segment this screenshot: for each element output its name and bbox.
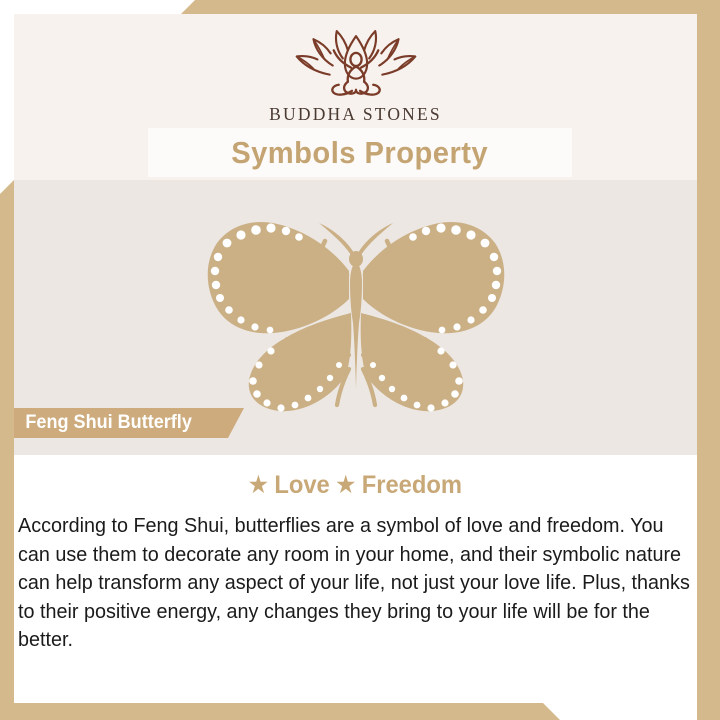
page-title: Symbols Property: [232, 135, 489, 171]
tagline: ★ Love ★ Freedom: [31, 471, 680, 500]
description-section: ★ Love ★ Freedom According to Feng Shui,…: [14, 455, 697, 703]
star-icon-middle: ★: [336, 472, 355, 497]
header-section: BUDDHA STONES Symbols Property: [14, 14, 697, 180]
frame-left-bar: [0, 180, 14, 720]
feng-shui-butterfly-label: Feng Shui Butterfly: [14, 408, 244, 438]
description-paragraph: According to Feng Shui, butterflies are …: [18, 512, 694, 655]
frame-bottom-bar: [0, 703, 560, 720]
label-text: Feng Shui Butterfly: [14, 412, 192, 434]
tagline-word-freedom: Freedom: [362, 471, 462, 499]
brand-logo: BUDDHA STONES: [14, 28, 697, 125]
frame-top-bar: [0, 0, 700, 14]
lotus-meditation-figure-icon: [280, 28, 432, 100]
brand-name: BUDDHA STONES: [14, 104, 697, 125]
star-icon-left: ★: [249, 472, 268, 497]
section-title-band: Symbols Property: [148, 128, 572, 177]
butterfly-icon: [191, 213, 521, 423]
frame-right-bar: [697, 0, 720, 720]
tagline-word-love: Love: [274, 471, 329, 499]
content-sheet: BUDDHA STONES Symbols Property: [14, 14, 697, 703]
infographic-page: BUDDHA STONES Symbols Property: [0, 0, 720, 720]
